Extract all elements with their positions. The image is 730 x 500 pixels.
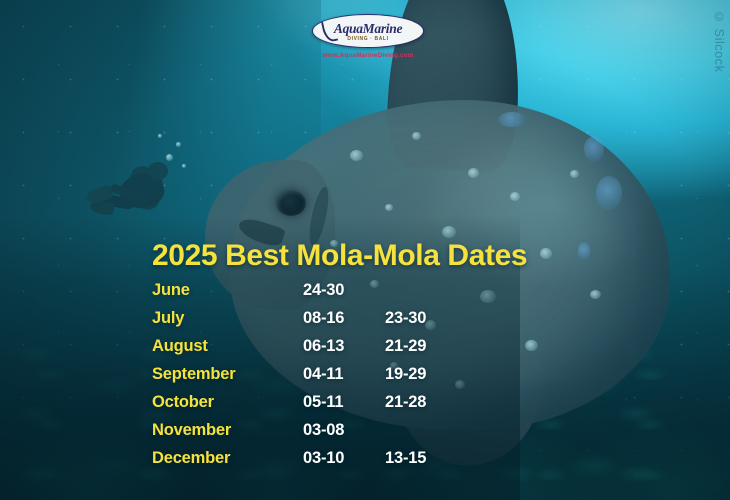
schedule-row: August06-1321-29 xyxy=(152,337,612,365)
month-label: June xyxy=(152,281,303,300)
schedule-list: June24-30July08-1623-30August06-1321-29S… xyxy=(152,281,612,477)
date-range-primary: 08-16 xyxy=(303,309,385,328)
date-range-secondary: 21-29 xyxy=(385,337,426,356)
date-range-secondary: 23-30 xyxy=(385,309,426,328)
date-range-secondary: 19-29 xyxy=(385,365,426,384)
logo-wordmark: AquaMarine xyxy=(313,22,423,36)
logo-tagline: DIVING · BALI xyxy=(313,36,423,42)
copyright-watermark: © Silcock xyxy=(712,10,726,72)
date-range-secondary: 21-28 xyxy=(385,393,426,412)
page-title: 2025 Best Mola-Mola Dates xyxy=(152,240,612,272)
date-range-secondary: 13-15 xyxy=(385,449,426,468)
poster-canvas: AquaMarine DIVING · BALI www.AquaMarineD… xyxy=(0,0,730,500)
content-block: 2025 Best Mola-Mola Dates June24-30July0… xyxy=(152,240,612,477)
date-range-primary: 05-11 xyxy=(303,393,385,412)
month-label: December xyxy=(152,449,303,468)
month-label: August xyxy=(152,337,303,356)
schedule-row: June24-30 xyxy=(152,281,612,309)
schedule-row: December03-1013-15 xyxy=(152,449,612,477)
date-range-primary: 03-10 xyxy=(303,449,385,468)
aquamarine-logo[interactable]: AquaMarine DIVING · BALI www.AquaMarineD… xyxy=(306,14,430,72)
date-range-primary: 04-11 xyxy=(303,365,385,384)
schedule-row: September04-1119-29 xyxy=(152,365,612,393)
logo-url[interactable]: www.AquaMarineDiving.com xyxy=(306,52,430,59)
date-range-primary: 03-08 xyxy=(303,421,385,440)
schedule-row: November03-08 xyxy=(152,421,612,449)
month-label: July xyxy=(152,309,303,328)
logo-badge: AquaMarine DIVING · BALI xyxy=(312,14,424,48)
schedule-row: July08-1623-30 xyxy=(152,309,612,337)
date-range-primary: 06-13 xyxy=(303,337,385,356)
schedule-row: October05-1121-28 xyxy=(152,393,612,421)
month-label: November xyxy=(152,421,303,440)
month-label: September xyxy=(152,365,303,384)
date-range-primary: 24-30 xyxy=(303,281,385,300)
month-label: October xyxy=(152,393,303,412)
